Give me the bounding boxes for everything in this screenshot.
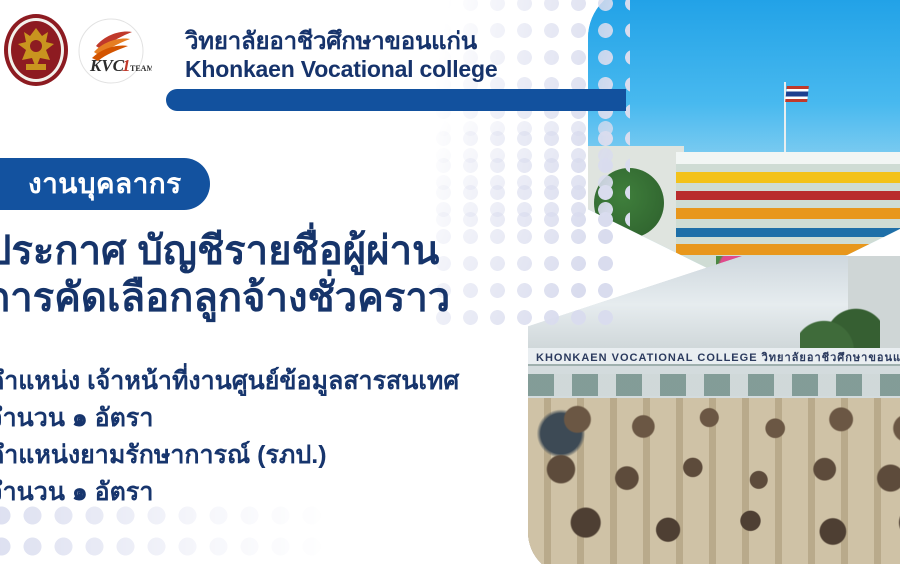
building-sign <box>676 152 900 164</box>
detail-position-1: ตำแหน่ง เจ้าหน้าที่งานศูนย์ข้อมูลสารสนเท… <box>0 363 548 400</box>
photo-collage: KHONKAEN VOCATIONAL COLLEGE วิทยาลัยอาชี… <box>520 0 900 564</box>
poster-canvas: KHONKAEN VOCATIONAL COLLEGE วิทยาลัยอาชี… <box>0 0 900 564</box>
headline-line-1: ประกาศ บัญชีรายชื่อผู้ผ่าน <box>0 228 546 275</box>
building-banner-1 <box>676 191 900 200</box>
group-photo-frame: KHONKAEN VOCATIONAL COLLEGE วิทยาลัยอาชี… <box>528 256 900 564</box>
header-accent-bar <box>166 89 626 111</box>
royal-garuda-seal-icon <box>2 12 70 88</box>
thai-flag-icon <box>785 86 809 102</box>
org-name-en: Khonkaen Vocational college <box>185 56 585 83</box>
svg-text:TEAM: TEAM <box>130 64 152 73</box>
detail-quantity-2: จำนวน ๑ อัตรา <box>0 474 548 511</box>
building-floor-3 <box>676 244 900 255</box>
group-photo-sign-text: KHONKAEN VOCATIONAL COLLEGE วิทยาลัยอาชี… <box>536 348 900 364</box>
position-details: ตำแหน่ง เจ้าหน้าที่งานศูนย์ข้อมูลสารสนเท… <box>0 363 548 511</box>
building-floor-1 <box>676 172 900 183</box>
kvc-one-team-logo-icon: KVC 1 TEAM <box>70 18 152 84</box>
category-badge: งานบุคลากร <box>0 158 210 210</box>
staff-group-photo: KHONKAEN VOCATIONAL COLLEGE วิทยาลัยอาชี… <box>528 256 900 564</box>
headline-line-2: การคัดเลือกลูกจ้างชั่วคราว <box>0 275 546 322</box>
announcement-headline: ประกาศ บัญชีรายชื่อผู้ผ่าน การคัดเลือกลู… <box>0 228 546 322</box>
staff-crowd <box>528 398 900 564</box>
category-badge-label: งานบุคลากร <box>28 170 182 198</box>
org-name-th: วิทยาลัยอาชีวศึกษาขอนแก่น <box>185 28 585 56</box>
building-floor-2 <box>676 208 900 219</box>
palm-tree-icon <box>594 168 664 238</box>
svg-text:KVC: KVC <box>89 56 125 75</box>
detail-position-2: ตำแหน่งยามรักษาการณ์ (รภป.) <box>0 437 548 474</box>
detail-quantity-1: จำนวน ๑ อัตรา <box>0 400 548 437</box>
organization-name: วิทยาลัยอาชีวศึกษาขอนแก่น Khonkaen Vocat… <box>185 28 585 83</box>
building-banner-2 <box>676 228 900 237</box>
college-building-photo <box>588 0 900 296</box>
